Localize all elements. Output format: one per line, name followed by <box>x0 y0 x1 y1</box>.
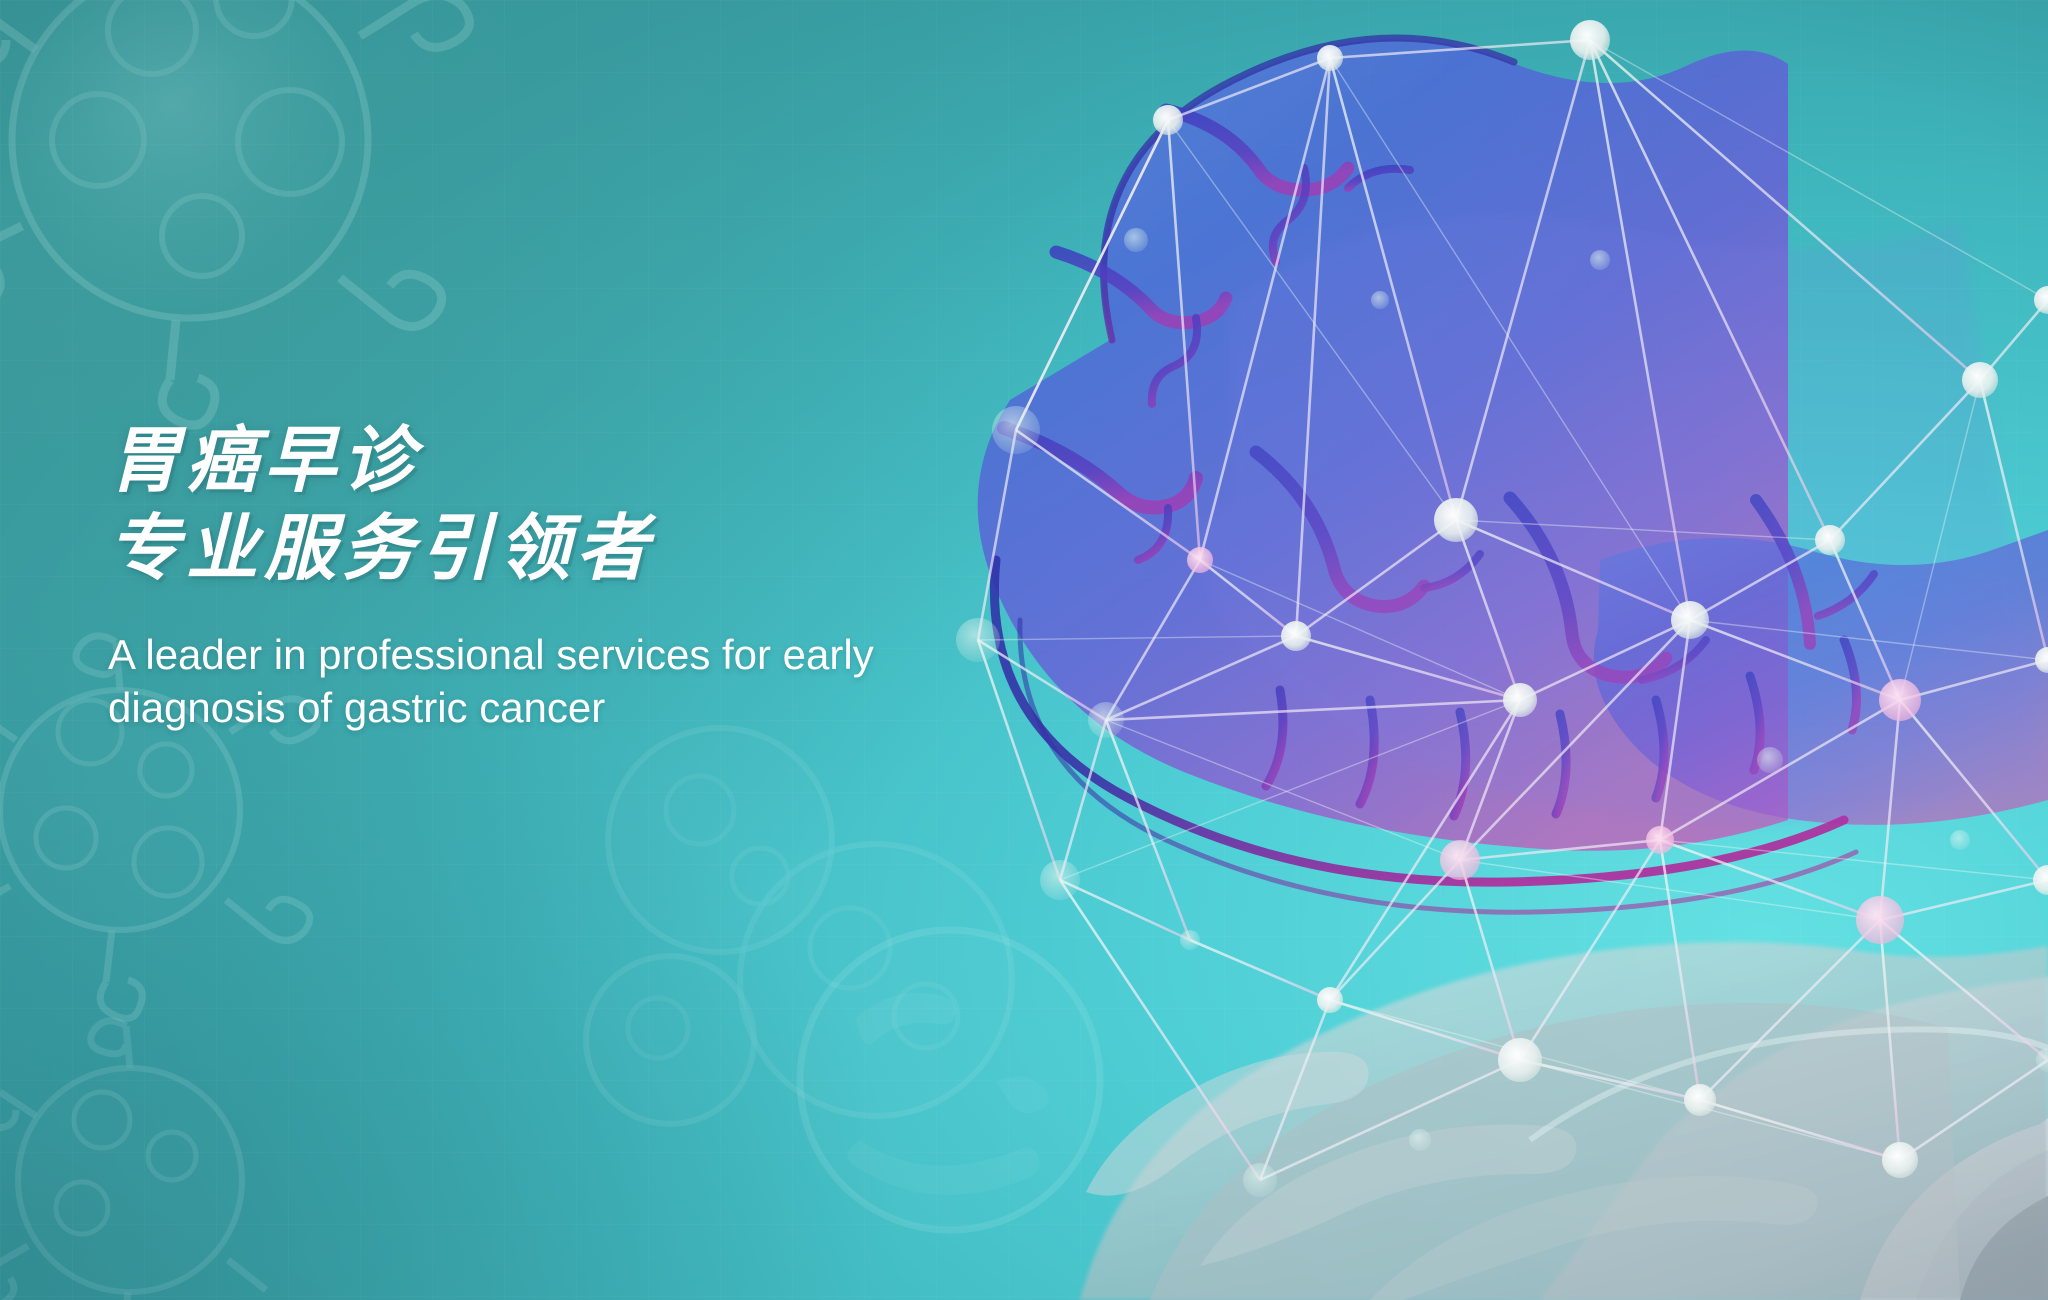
subtitle-line-1: A leader in professional services for ea… <box>108 628 908 682</box>
subtitle-block: A leader in professional services for ea… <box>108 628 908 736</box>
subtitle-line-2: diagnosis of gastric cancer <box>108 681 908 735</box>
headline-block: 胃癌早诊 专业服务引领者 A leader in professional se… <box>108 418 1108 735</box>
headline-line-2: 专业服务引领者 <box>108 506 1108 594</box>
hero-banner: 胃癌早诊 专业服务引领者 A leader in professional se… <box>0 0 2048 1300</box>
headline-line-1: 胃癌早诊 <box>108 418 1108 506</box>
